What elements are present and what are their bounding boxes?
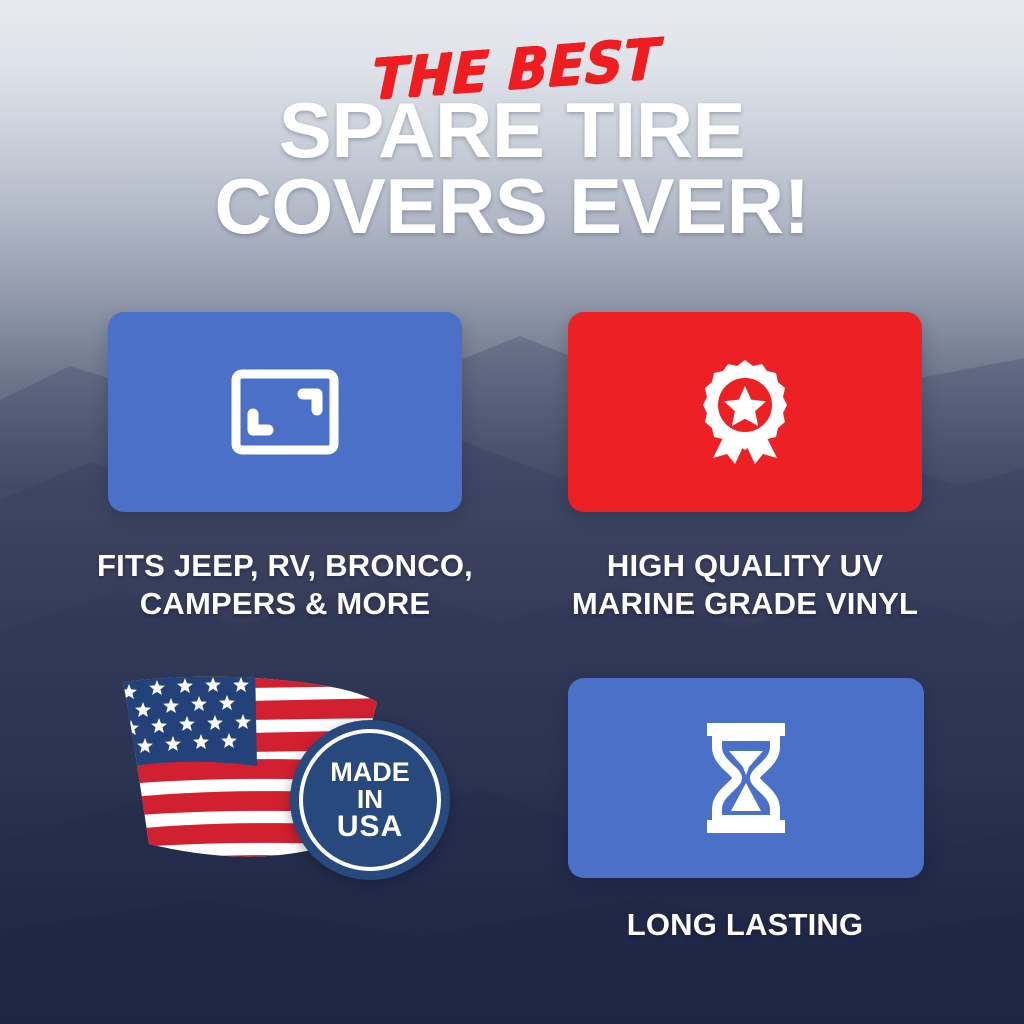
caption-fits-line2: CAMPERS & MORE	[60, 585, 510, 623]
feature-card-fits	[108, 312, 462, 512]
badge-line-usa: USA	[330, 812, 410, 842]
fit-resize-icon	[231, 369, 339, 455]
feature-card-lasting	[568, 678, 924, 878]
caption-quality: HIGH QUALITY UV MARINE GRADE VINYL	[520, 547, 970, 623]
promo-graphic: THE BEST SPARE TIRE COVERS EVER!	[0, 0, 1024, 1024]
caption-fits: FITS JEEP, RV, BRONCO, CAMPERS & MORE	[60, 547, 510, 623]
title-line-2: COVERS EVER!	[0, 168, 1024, 244]
hourglass-icon	[705, 723, 787, 833]
badge-line-in: IN	[330, 786, 410, 812]
feature-card-quality	[568, 312, 922, 512]
caption-lasting-line1: LONG LASTING	[520, 906, 970, 944]
made-in-usa-group: MADE IN USA	[105, 672, 465, 872]
page-title: SPARE TIRE COVERS EVER!	[0, 92, 1024, 245]
caption-lasting: LONG LASTING	[520, 906, 970, 944]
made-in-usa-badge: MADE IN USA	[290, 720, 450, 880]
title-line-1: SPARE TIRE	[0, 92, 1024, 168]
award-ribbon-icon	[697, 360, 793, 464]
badge-text: MADE IN USA	[330, 759, 410, 842]
caption-quality-line2: MARINE GRADE VINYL	[520, 585, 970, 623]
caption-quality-line1: HIGH QUALITY UV	[520, 547, 970, 585]
badge-line-made: MADE	[330, 759, 410, 786]
headline-block: THE BEST SPARE TIRE COVERS EVER!	[0, 44, 1024, 245]
caption-fits-line1: FITS JEEP, RV, BRONCO,	[60, 547, 510, 585]
